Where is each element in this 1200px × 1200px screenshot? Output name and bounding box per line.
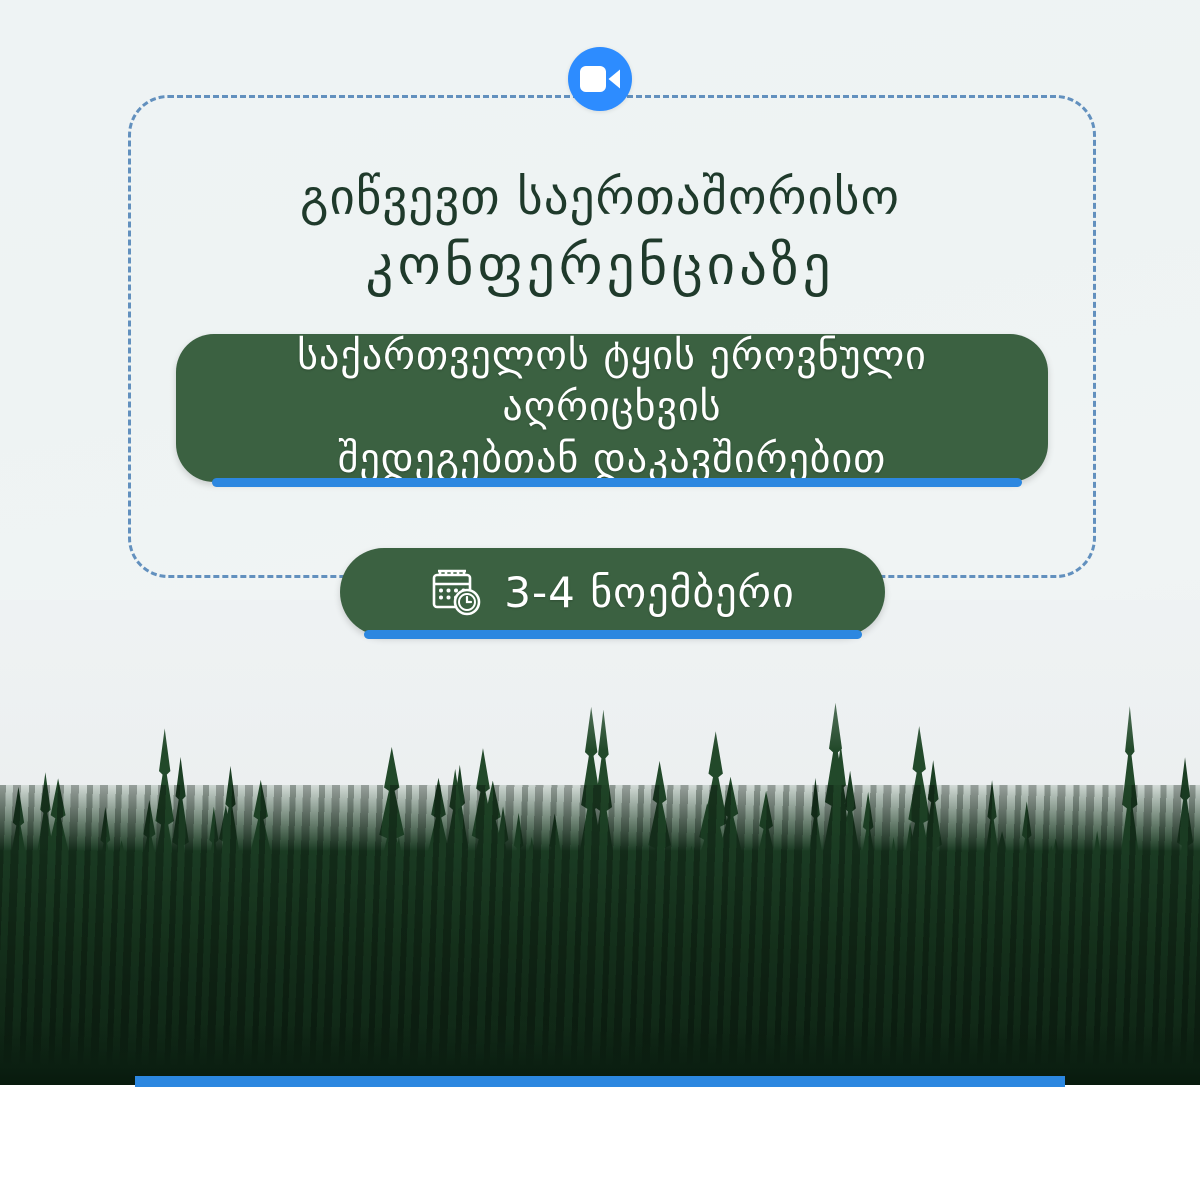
footer-logo-strip: საქართველოს გარემოს დაცვისა და სოფლის მე… [0,1087,1200,1200]
title-line-2: კონფერენციაზე [0,232,1200,299]
calendar-clock-icon [430,566,482,618]
zoom-video-camera-icon [568,47,632,111]
subtitle-banner: საქართველოს ტყის ეროვნული აღრიცხვის შედე… [176,334,1048,482]
subtitle-banner-accent-bar [212,478,1022,487]
title-line-1: გიწვევთ საერთაშორისო [0,168,1200,228]
conference-invitation-poster: გიწვევთ საერთაშორისო კონფერენციაზე საქარ… [0,0,1200,1200]
date-badge-accent-bar [364,630,862,639]
subtitle-text: საქართველოს ტყის ეროვნული აღრიცხვის შედე… [176,331,1048,485]
date-text: 3-4 ნოემბერი [504,568,794,617]
forest-photo [0,600,1200,1085]
page-title: გიწვევთ საერთაშორისო კონფერენციაზე [0,168,1200,299]
blue-divider-bar [135,1076,1065,1087]
date-badge: 3-4 ნოემბერი [340,548,885,636]
subtitle-line-1: საქართველოს ტყის ეროვნული აღრიცხვის [202,331,1022,433]
